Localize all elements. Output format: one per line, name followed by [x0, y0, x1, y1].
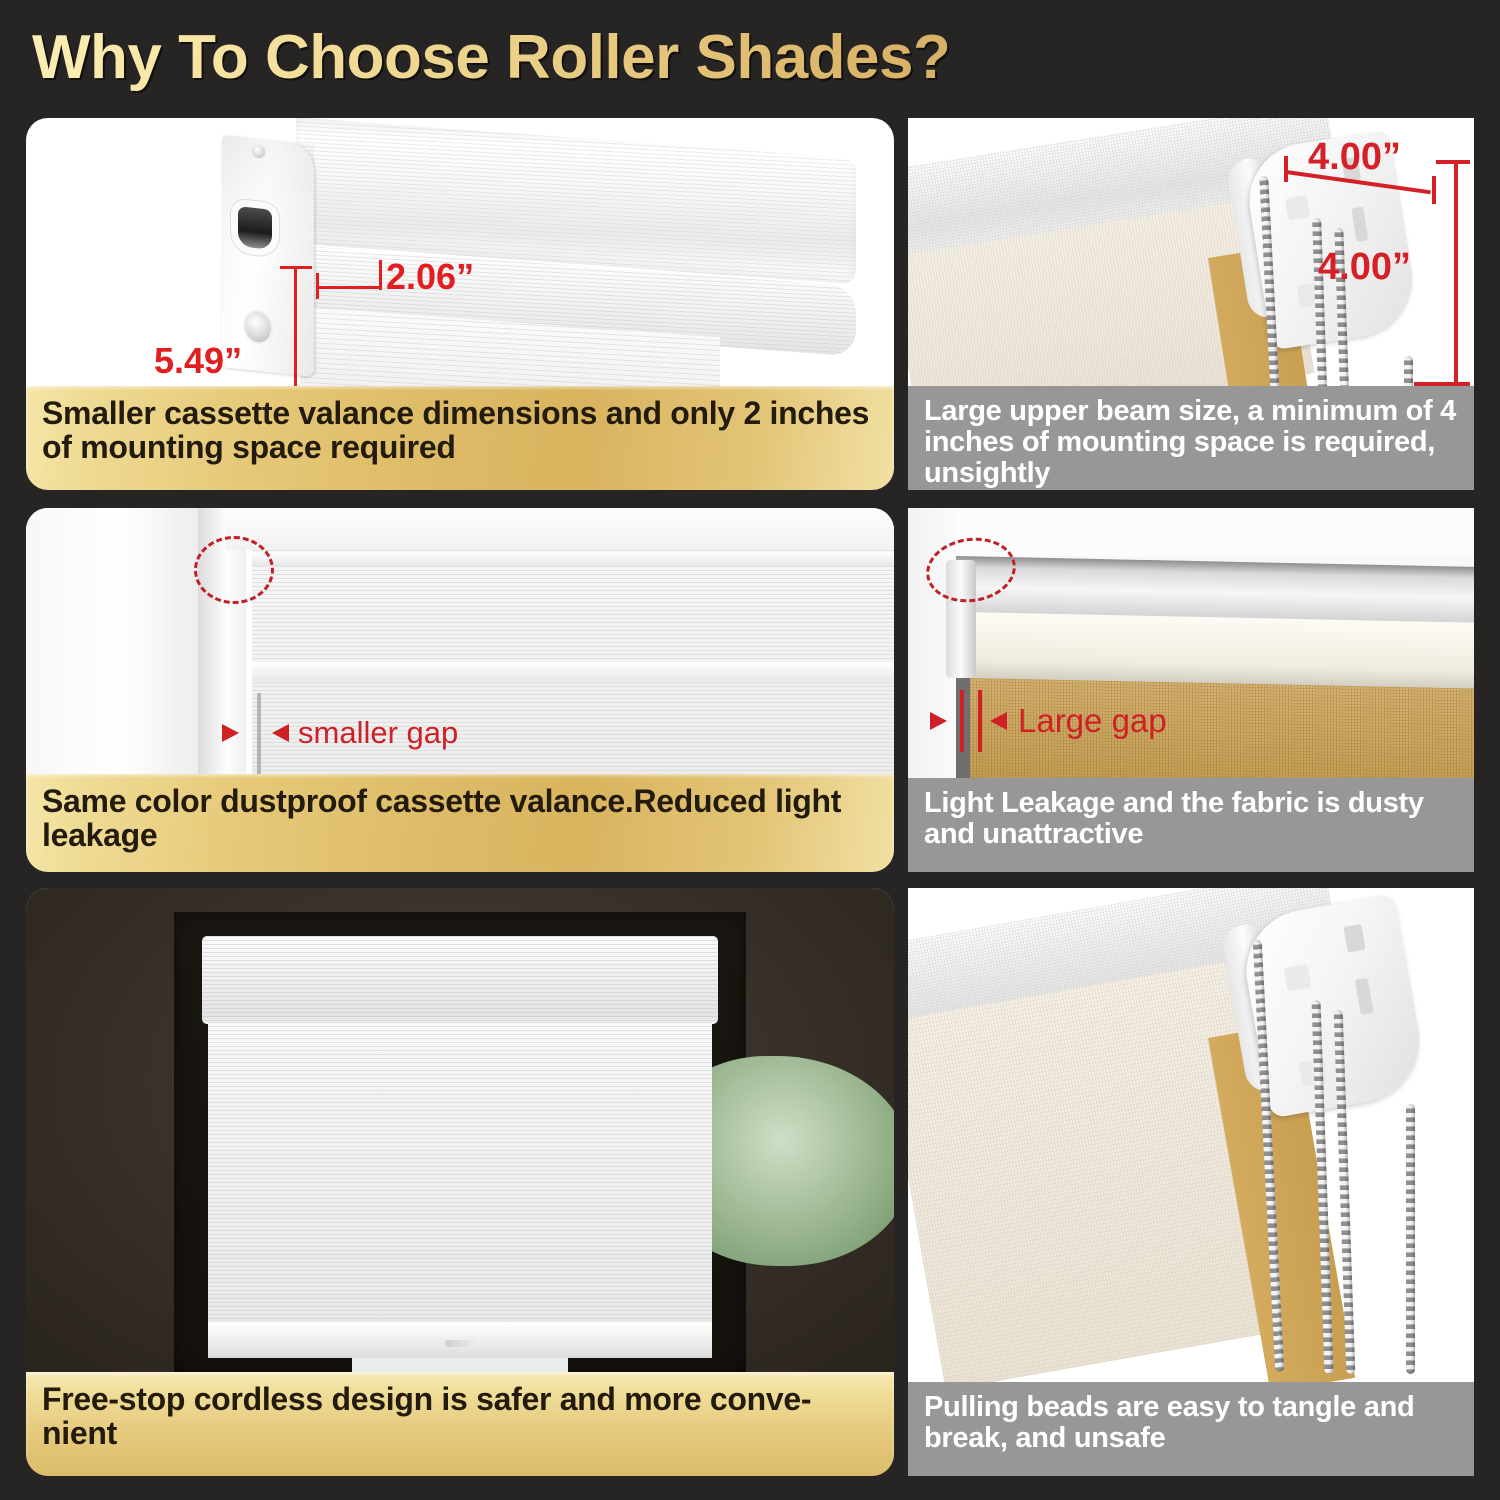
width-dim-line [316, 286, 382, 289]
panel-6-caption: Pulling beads are easy to tangle and bre… [908, 1382, 1474, 1476]
panel-4-caption: Light Leakage and the fabric is dusty an… [908, 778, 1474, 872]
beam-width-tick-right [1432, 176, 1436, 204]
panel-5-photo [26, 888, 894, 1372]
comparison-grid: 5.49” 2.06” Smaller cassette valance dim… [0, 0, 1500, 1500]
bracket-emboss-a [1285, 195, 1310, 220]
panel-pulling-beads: Pulling beads are easy to tangle and bre… [908, 888, 1474, 1476]
gap-marker-a [960, 690, 964, 752]
window-frame-closeup [26, 508, 894, 774]
panel-3-photo: smaller gap [26, 508, 894, 774]
width-dim-tick-right [379, 260, 382, 290]
panel-4-photo: Large gap [908, 508, 1474, 778]
height-dim-line [294, 266, 297, 386]
beam-width-label: 4.00” [1308, 136, 1401, 179]
cassette-valance [202, 936, 718, 1024]
bracket-emboss-a [1284, 964, 1312, 992]
shade-panel [208, 1022, 712, 1322]
height-dimension-label: 5.49” [154, 340, 242, 382]
gap-marker-b [978, 690, 982, 752]
bead-chain-4 [1404, 356, 1413, 386]
bracket-slot [238, 206, 272, 250]
panel-2-caption: Large upper beam size, a minimum of 4 in… [908, 386, 1474, 490]
cassette-valance-product [196, 136, 894, 386]
cassette-lip [252, 552, 894, 566]
panel-smaller-cassette: 5.49” 2.06” Smaller cassette valance dim… [26, 118, 894, 490]
gap-arrow-right-icon [272, 724, 289, 742]
panel-3-caption: Same color dustproof cassette valance.Re… [26, 774, 894, 872]
smaller-gap-label: smaller gap [298, 715, 458, 751]
panel-cordless-design: Free-stop cordless design is safer and m… [26, 888, 894, 1476]
panel-1-photo: 5.49” 2.06” [26, 118, 894, 386]
panel-large-gap: Large gap Light Leakage and the fabric i… [908, 508, 1474, 872]
beam-height-dim-line [1454, 160, 1458, 386]
cassette-band [252, 662, 894, 684]
installed-roller-shade [202, 936, 718, 1372]
bracket-slot-b [1355, 978, 1374, 1016]
light-leak-closeup [908, 508, 1474, 778]
bracket-slot-b [1351, 207, 1368, 242]
panel-1-caption: Smaller cassette valance dimensions and … [26, 386, 894, 490]
pull-tab [445, 1340, 479, 1347]
width-dimension-label: 2.06” [386, 256, 474, 298]
gap-arrow-right-icon [990, 712, 1007, 730]
window-jamb [26, 508, 198, 774]
beam-height-tick-top [1436, 160, 1470, 164]
window-header [226, 508, 894, 550]
room-interior [26, 888, 894, 1372]
large-gap-label: Large gap [1018, 702, 1167, 740]
gap-arrow-left-icon [930, 712, 947, 730]
bead-chain-product [908, 888, 1474, 1382]
panel-2-photo: 4.00” 4.00” [908, 118, 1474, 386]
beam-height-label: 4.00” [1318, 246, 1411, 289]
panel-5-caption: Free-stop cordless design is safer and m… [26, 1372, 894, 1476]
height-dim-tick-top [280, 266, 312, 269]
panel-6-photo [908, 888, 1474, 1382]
width-dim-tick-left [316, 273, 319, 299]
gap-marker [257, 693, 261, 774]
bracket-slot-a [1343, 924, 1365, 953]
highlight-circle [194, 536, 274, 604]
bead-chain-4 [1406, 1104, 1415, 1374]
panel-smaller-gap: smaller gap Same color dustproof cassett… [26, 508, 894, 872]
gap-arrow-left-icon [222, 724, 239, 742]
beam-width-tick-left [1284, 156, 1288, 182]
panel-large-upper-beam: 4.00” 4.00” Large upper beam size, a min… [908, 118, 1474, 490]
